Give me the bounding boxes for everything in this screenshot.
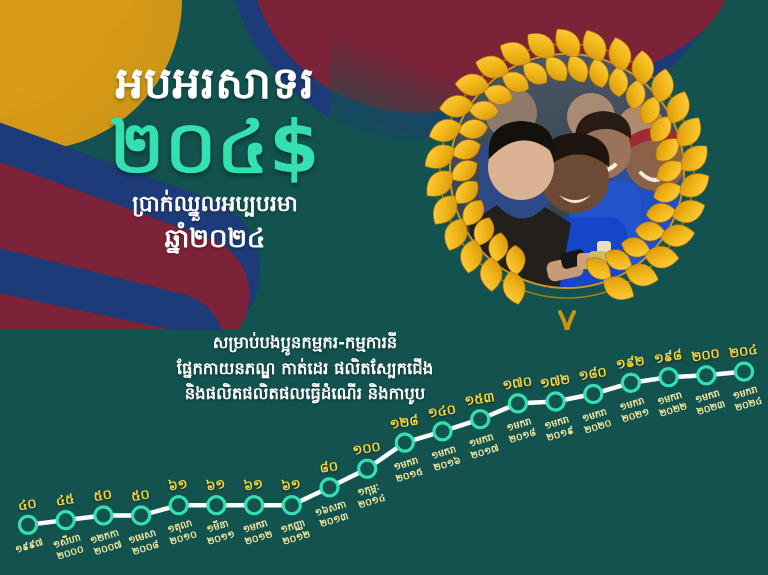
chart-category-label: ១កុម្ភៈ២០១៤: [354, 481, 387, 511]
chart-point-marker[interactable]: [698, 367, 715, 384]
chart-point-marker[interactable]: [246, 497, 263, 514]
chart-category-label: ១មករា២០២០: [580, 406, 613, 436]
chart-point-marker[interactable]: [585, 386, 602, 403]
detail-line-1: សម្រាប់បងប្អូនកម្មករ-កម្មការនី: [60, 330, 550, 356]
headline-block: អបអរសាទរ ២០៤$ ប្រាក់ឈ្នួលអប្បបរមា ឆ្នាំ២…: [0, 62, 430, 260]
chart-point-marker[interactable]: [170, 497, 187, 514]
chart-point-marker[interactable]: [20, 516, 37, 533]
chart-category-label: ១មករា២០១៨: [504, 416, 538, 446]
chart-category-label: ១សីហា២០០០: [51, 530, 85, 562]
laurel-medallion: [408, 12, 726, 330]
chart-category-label: ១មេសា២០០៨: [127, 528, 161, 558]
chart-category-label: ១កញ្ញា២០១២: [278, 517, 312, 547]
detail-line-3: និងផលិតផលិតផលធ្វើដំណើរ និងកាបូប: [60, 381, 550, 407]
headline-subtitle: ប្រាក់ឈ្នួលអប្បបរមា: [0, 191, 430, 219]
chart-point-marker[interactable]: [283, 497, 300, 514]
chart-value-label: ៥០: [93, 487, 114, 505]
chart-value-label: ២០៤: [728, 343, 758, 362]
chart-point-marker[interactable]: [133, 507, 150, 524]
chart-point-marker[interactable]: [359, 460, 376, 477]
chart-value-label: ៦១: [168, 477, 189, 495]
detail-text-block: សម្រាប់បងប្អូនកម្មករ-កម្មការនី ផ្នែកកាយន…: [60, 330, 550, 407]
poster-canvas: អបអរសាទរ ២០៤$ ប្រាក់ឈ្នួលអប្បបរមា ឆ្នាំ២…: [0, 0, 768, 575]
chart-point-marker[interactable]: [321, 479, 338, 496]
chart-value-label: ២០០: [691, 346, 721, 365]
chart-category-label: ១មករា២០២២: [655, 389, 689, 419]
laurel-wreath-icon: [408, 12, 726, 330]
chart-category-label: ១មីនា២០១១: [202, 516, 236, 548]
chart-point-marker[interactable]: [57, 512, 74, 529]
chart-point-marker[interactable]: [736, 363, 753, 380]
chart-value-label: ៦១: [281, 477, 302, 495]
chart-value-label: ១៩៨: [653, 348, 683, 367]
chart-value-label: ៤០: [17, 496, 38, 514]
chart-point-marker[interactable]: [660, 369, 677, 386]
chart-category-label: ១តុលា២០១០: [165, 517, 198, 547]
chart-category-label: ១មករា២០១២: [240, 517, 274, 547]
chart-category-label: ១មករា២០១៩: [542, 414, 576, 444]
detail-line-2: ផ្នែកកាយនភណ្ឌ កាត់ដេរ ផលិតស្បែកជើង: [60, 356, 550, 382]
chart-category-label: ១មករា២០១៦: [429, 444, 462, 474]
chart-category-label: ១២កកា២០០៧: [89, 528, 124, 559]
chart-value-label: ៨០: [319, 459, 340, 477]
chart-value-label: ១៩២: [615, 354, 646, 373]
page-title: អបអរសាទរ: [0, 62, 430, 107]
svg-text:១៩៩៧: ១៩៩៧: [14, 537, 45, 556]
headline-year: ឆ្នាំ២០២៤: [0, 222, 430, 260]
chart-value-label: ៦១: [205, 477, 226, 495]
chart-category-label: ១មករា២០១៧: [466, 431, 501, 462]
wage-amount: ២០៤$: [0, 111, 430, 183]
chart-category-label: ១៦សភា២០១៣: [314, 499, 351, 530]
chart-category-label: ១មករា២០២៤: [730, 384, 763, 414]
chart-category-label: ១មករា២០១៥: [391, 455, 424, 485]
chart-value-label: ១៨០: [578, 365, 608, 384]
chart-value-label: ១០០: [352, 440, 382, 459]
chart-value-label: ៥០: [130, 487, 151, 505]
chart-category-label: ១មករា២០២៣: [692, 387, 727, 418]
chart-point-marker[interactable]: [396, 434, 413, 451]
chart-category-label: ១៩៩៧: [14, 537, 45, 556]
chart-point-marker[interactable]: [434, 423, 451, 440]
chart-point-marker[interactable]: [472, 411, 489, 428]
chart-category-label: ១មករា២០២១: [617, 395, 651, 425]
chart-point-marker[interactable]: [208, 497, 225, 514]
chart-value-label: ១២៨: [389, 413, 420, 432]
chart-point-marker[interactable]: [95, 507, 112, 524]
chart-value-label: ៦១: [243, 477, 264, 495]
chart-value-label: ៤៥: [55, 492, 76, 510]
chart-point-marker[interactable]: [622, 374, 639, 391]
